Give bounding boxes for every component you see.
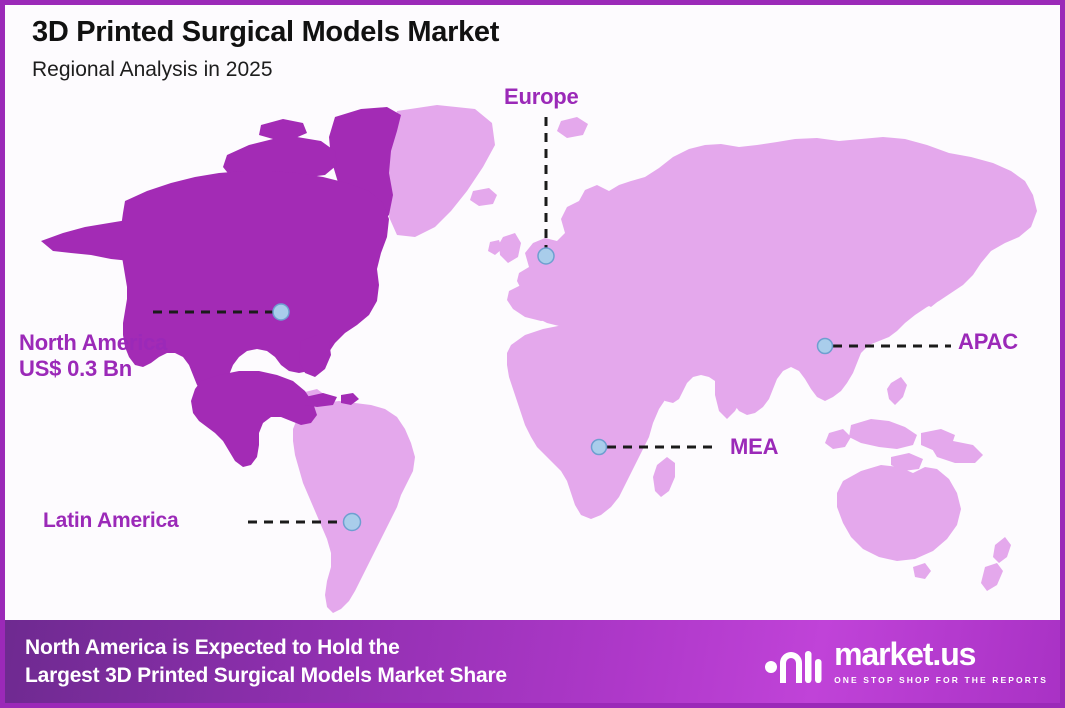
footer-caption-line2: Largest 3D Printed Surgical Models Marke… xyxy=(25,662,507,690)
logo-bar-tall xyxy=(805,651,812,683)
page-subtitle: Regional Analysis in 2025 xyxy=(32,57,499,82)
market-us-logo[interactable]: market.us ONE STOP SHOP FOR THE REPORTS xyxy=(765,638,1065,685)
header: 3D Printed Surgical Models Market Region… xyxy=(32,15,499,82)
logo-dot xyxy=(765,661,777,673)
map-marker-north-america xyxy=(273,304,289,320)
map-marker-mea xyxy=(592,440,607,455)
map-marker-europe xyxy=(538,248,554,264)
region-label-apac: APAC xyxy=(958,329,1018,355)
region-label-north-america: North America US$ 0.3 Bn xyxy=(19,330,167,382)
footer-banner: North America is Expected to Hold the La… xyxy=(5,620,1065,703)
logo-tagline: ONE STOP SHOP FOR THE REPORTS xyxy=(834,675,1048,685)
logo-bar-short xyxy=(815,659,822,683)
footer-caption: North America is Expected to Hold the La… xyxy=(5,634,507,690)
map-marker-apac xyxy=(818,339,833,354)
logo-wordmark: market.us xyxy=(834,638,975,670)
market-us-logo-mark xyxy=(765,639,823,685)
market-us-logo-text: market.us ONE STOP SHOP FOR THE REPORTS xyxy=(834,638,1048,685)
page-title: 3D Printed Surgical Models Market xyxy=(32,15,499,50)
region-label-europe: Europe xyxy=(504,84,579,110)
region-label-north-america-line2: US$ 0.3 Bn xyxy=(19,356,167,382)
region-label-north-america-line1: North America xyxy=(19,330,167,356)
map-marker-latin-america xyxy=(344,514,361,531)
region-label-latin-america: Latin America xyxy=(43,509,179,534)
footer-caption-line1: North America is Expected to Hold the xyxy=(25,634,507,662)
infographic-frame: 3D Printed Surgical Models Market Region… xyxy=(0,0,1065,708)
region-label-mea: MEA xyxy=(730,434,778,460)
